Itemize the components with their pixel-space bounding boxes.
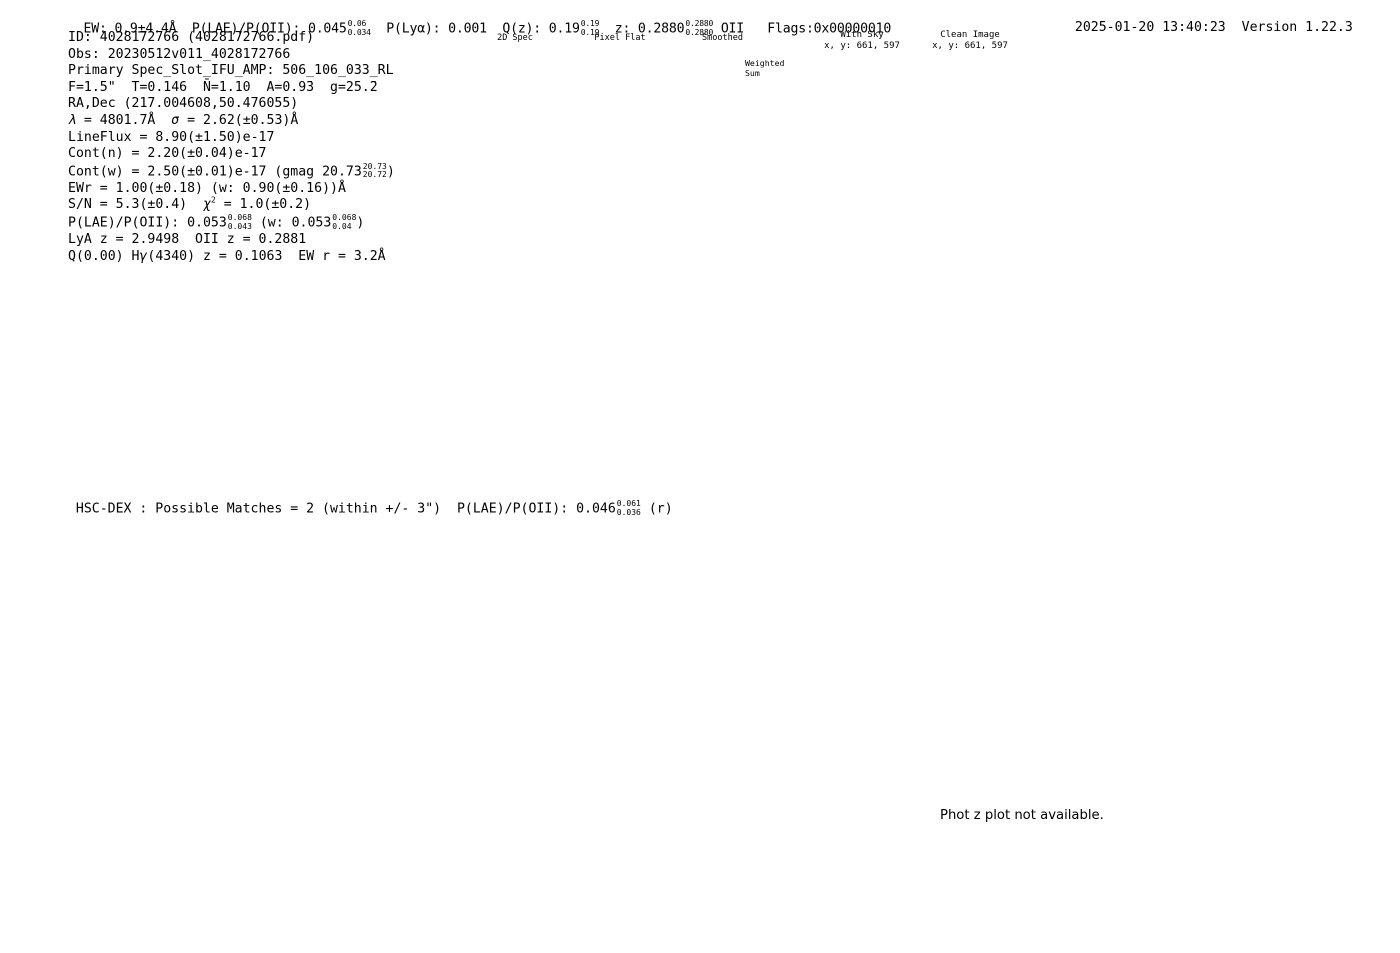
header-version: Version 1.22.3 bbox=[1242, 20, 1353, 35]
info-snr-chi2: S/N = 5.3(±0.4) χ2 = 1.0(±0.2) bbox=[68, 197, 395, 214]
info-obs: Obs: 20230512v011_4028172766 bbox=[68, 47, 395, 64]
info-q-line: Q(0.00) Hγ(4340) z = 0.1063 EW r = 3.2Å bbox=[68, 249, 395, 266]
info-cont-n: Cont(n) = 2.20(±0.04)e-17 bbox=[68, 146, 395, 163]
hsc-dex-headline: HSC-DEX : Possible Matches = 2 (within +… bbox=[60, 485, 673, 517]
cutout-title-withsky: With Skyx, y: 661, 597 bbox=[817, 30, 907, 52]
cutout-title-cleanimage: Clean Imagex, y: 661, 597 bbox=[920, 30, 1020, 52]
info-primary-spec: Primary Spec_Slot_IFU_AMP: 506_106_033_R… bbox=[68, 63, 395, 80]
full-spectrum-plot bbox=[88, 352, 1300, 430]
info-ewr: EWr = 1.00(±0.18) (w: 0.90(±0.16))Å bbox=[68, 181, 395, 198]
info-redshifts: LyA z = 2.9498 OII z = 0.2881 bbox=[68, 232, 395, 249]
photz-note: Phot z plot not available. bbox=[940, 808, 1104, 823]
info-cont-w: Cont(w) = 2.50(±0.01)e-17 (gmag 20.7320.… bbox=[68, 163, 395, 181]
info-plae-poii: P(LAE)/P(OII): 0.0530.0680.043 (w: 0.053… bbox=[68, 214, 395, 232]
col-title-pixelflat: Pixel Flat bbox=[570, 33, 670, 43]
info-wavelength-sigma: λ = 4801.7Å σ = 2.62(±0.53)Å bbox=[68, 113, 395, 130]
info-lineflux: LineFlux = 8.90(±1.50)e-17 bbox=[68, 130, 395, 147]
line-fit-plot bbox=[1030, 48, 1310, 238]
header-timestamp-version: 2025-01-20 13:40:23 Version 1.22.3 bbox=[1059, 5, 1353, 35]
twod-spec-block: 2D Spec Pixel Flat Smoothed WeightedSum bbox=[440, 33, 770, 253]
col-title-2dspec: 2D Spec bbox=[465, 33, 565, 43]
info-id: ID: 4028172766 (4028172766.pdf) bbox=[68, 30, 395, 47]
col-title-smoothed: Smoothed bbox=[675, 33, 770, 43]
header-datetime: 2025-01-20 13:40:23 bbox=[1075, 20, 1226, 35]
weighted-sum-label: WeightedSum bbox=[745, 59, 784, 78]
hsc-headline-range: 0.0610.036 bbox=[617, 500, 641, 517]
info-fwhm-params: F=1.5" T=0.146 N̄=1.10 A=0.9̄3 g=25.̄2 bbox=[68, 80, 395, 97]
hsc-headline-text: HSC-DEX : Possible Matches = 2 (within +… bbox=[76, 502, 616, 517]
source-info-block: ID: 4028172766 (4028172766.pdf) Obs: 202… bbox=[68, 30, 395, 265]
hsc-headline-tail: (r) bbox=[649, 502, 673, 517]
info-radec: RA,Dec (217.004608,50.476055) bbox=[68, 96, 395, 113]
